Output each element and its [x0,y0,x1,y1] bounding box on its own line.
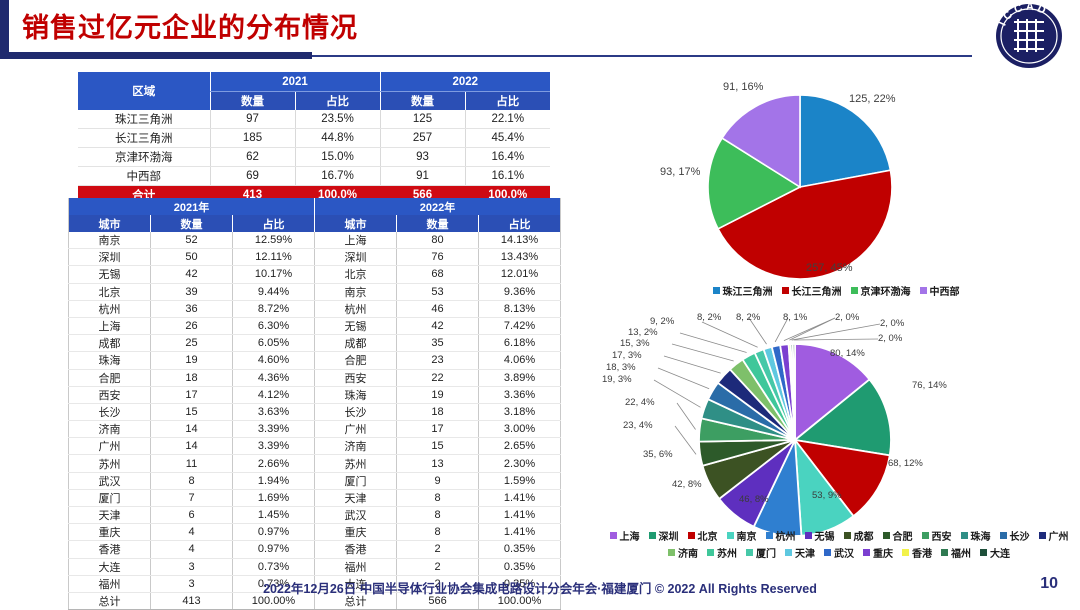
table-row: 大连30.73%福州20.35% [69,558,561,575]
pie-data-label: 13, 2% [628,327,658,338]
pie-data-label: 53, 9% [812,490,842,501]
city-2022-count: 80 [397,232,479,249]
legend-item[interactable]: 长江三角洲 [782,283,842,298]
legend-label: 重庆 [873,545,893,560]
city-2021-name: 厦门 [69,489,151,506]
legend-item[interactable]: 济南 [668,545,698,560]
city-2022-name: 福州 [315,558,397,575]
legend-swatch-icon [883,532,890,539]
legend-swatch-icon [785,549,792,556]
pie-data-label: 76, 14% [912,380,947,391]
city-2021-name: 上海 [69,317,151,334]
leader-line [664,356,721,373]
table-row: 香港40.97%香港20.35% [69,541,561,558]
city-2021-share: 1.45% [233,507,315,524]
city-2021-share: 6.30% [233,317,315,334]
city-2022-share: 0.35% [479,541,561,558]
city-2021-count: 25 [151,335,233,352]
legend-swatch-icon [1039,532,1046,539]
city-year-2022-header: 2022年 [315,198,561,215]
legend-label: 京津环渤海 [861,283,911,298]
legend-label: 珠海 [971,528,991,543]
legend-label: 西安 [932,528,952,543]
legend-item[interactable]: 重庆 [863,545,893,560]
city-2021-share-header: 占比 [233,215,315,232]
table-row: 长江三角洲 185 44.8% 257 45.4% [78,129,550,148]
region-2021-count: 62 [210,148,295,167]
city-2021-count: 15 [151,403,233,420]
region-2021-share-header: 占比 [295,92,380,111]
pie-data-label: 35, 6% [643,449,673,460]
city-2021-share: 4.36% [233,369,315,386]
city-2021-share: 9.44% [233,283,315,300]
leader-line [794,339,878,340]
city-2021-name: 北京 [69,283,151,300]
legend-label: 长沙 [1010,528,1030,543]
legend-item[interactable]: 杭州 [766,528,796,543]
city-2021-share: 12.11% [233,249,315,266]
region-2022-share: 45.4% [465,129,550,148]
city-2022-name: 珠海 [315,386,397,403]
city-2021-count: 3 [151,558,233,575]
table-row: 济南143.39%广州173.00% [69,421,561,438]
leader-line [680,333,747,352]
legend-item[interactable]: 福州 [941,545,971,560]
legend-swatch-icon [805,532,812,539]
pie-data-label: 2, 0% [878,333,902,344]
page-number: 10 [1040,575,1058,593]
legend-label: 苏州 [717,545,737,560]
legend-label: 北京 [698,528,718,543]
city-2022-count-header: 数量 [397,215,479,232]
legend-swatch-icon [961,532,968,539]
city-2022-share: 3.36% [479,386,561,403]
legend-swatch-icon [782,287,789,294]
city-2022-name: 长沙 [315,403,397,420]
table-row: 杭州368.72%杭州468.13% [69,300,561,317]
legend-item[interactable]: 珠江三角洲 [713,283,773,298]
city-2021-share: 3.39% [233,438,315,455]
table-row: 南京5212.59%上海8014.13% [69,232,561,249]
pie-data-label: 22, 4% [625,397,655,408]
legend-label: 南京 [737,528,757,543]
table-row: 珠海194.60%合肥234.06% [69,352,561,369]
city-2021-count: 11 [151,455,233,472]
city-2022-count: 8 [397,524,479,541]
legend-swatch-icon [713,287,720,294]
pie-data-label: 9, 2% [650,316,674,327]
city-2022-count: 22 [397,369,479,386]
city-2022-name: 重庆 [315,524,397,541]
legend-item[interactable]: 上海 [610,528,640,543]
region-name: 中西部 [78,167,210,186]
region-year-2022-header: 2022 [380,72,550,92]
city-2022-share: 6.18% [479,335,561,352]
region-2022-count: 91 [380,167,465,186]
legend-swatch-icon [766,532,773,539]
city-2022-name: 南京 [315,283,397,300]
legend-item[interactable]: 中西部 [920,283,960,298]
city-2021-count: 14 [151,438,233,455]
legend-item[interactable]: 珠海 [961,528,991,543]
pie-label-top-1: 257, 45% [806,262,852,274]
city-2022-share: 4.06% [479,352,561,369]
city-2021-count: 52 [151,232,233,249]
city-2022-share: 8.13% [479,300,561,317]
legend-label: 大连 [990,545,1010,560]
pie-data-label: 8, 2% [736,312,760,323]
legend-item[interactable]: 南京 [727,528,757,543]
iccad-logo-icon: I C C A D [988,3,1070,69]
city-2021-name: 成都 [69,335,151,352]
legend-label: 成都 [854,528,874,543]
region-2021-share: 44.8% [295,129,380,148]
city-2021-share: 8.72% [233,300,315,317]
legend-swatch-icon [668,549,675,556]
region-2021-count: 97 [210,110,295,129]
region-pie-chart: 91, 16% 125, 22% 93, 17% 257, 45% [600,62,1070,312]
pie-label-zhujiang: 91, 16% [723,81,763,93]
legend-item[interactable]: 厦门 [746,545,776,560]
city-2022-name: 天津 [315,489,397,506]
city-2021-share: 1.69% [233,489,315,506]
legend-swatch-icon [941,549,948,556]
city-2021-share: 4.12% [233,386,315,403]
legend-item[interactable]: 苏州 [707,545,737,560]
table-row: 武汉81.94%厦门91.59% [69,472,561,489]
city-2022-share: 1.41% [479,524,561,541]
table-row: 重庆40.97%重庆81.41% [69,524,561,541]
region-name: 京津环渤海 [78,148,210,167]
city-2021-name: 天津 [69,507,151,524]
city-2021-count: 4 [151,541,233,558]
city-2022-name: 成都 [315,335,397,352]
legend-swatch-icon [902,549,909,556]
city-2022-count: 17 [397,421,479,438]
city-2021-name: 珠海 [69,352,151,369]
table-row: 北京399.44%南京539.36% [69,283,561,300]
legend-swatch-icon [920,287,927,294]
city-2022-name: 广州 [315,421,397,438]
city-2022-share: 2.65% [479,438,561,455]
legend-swatch-icon [980,549,987,556]
city-2022-name: 深圳 [315,249,397,266]
pie-data-label: 8, 2% [697,312,721,323]
city-2022-name: 上海 [315,232,397,249]
region-2021-count-header: 数量 [210,92,295,111]
legend-swatch-icon [824,549,831,556]
region-2022-count: 125 [380,110,465,129]
legend-item[interactable]: 香港 [902,545,932,560]
city-2022-count: 76 [397,249,479,266]
city-2022-count: 15 [397,438,479,455]
city-2022-name: 无锡 [315,317,397,334]
city-2021-count: 17 [151,386,233,403]
city-2022-count: 53 [397,283,479,300]
city-2021-share: 4.60% [233,352,315,369]
city-2021-name: 武汉 [69,472,151,489]
region-pie-legend: 珠江三角洲长江三角洲京津环渤海中西部 [614,283,1058,298]
city-2022-name: 合肥 [315,352,397,369]
legend-item[interactable]: 武汉 [824,545,854,560]
city-2021-name: 南京 [69,232,151,249]
legend-swatch-icon [851,287,858,294]
legend-swatch-icon [1000,532,1007,539]
legend-swatch-icon [610,532,617,539]
table-row: 天津61.45%武汉81.41% [69,507,561,524]
city-2021-name: 香港 [69,541,151,558]
region-2021-count: 185 [210,129,295,148]
table-row: 无锡4210.17%北京6812.01% [69,266,561,283]
legend-label: 天津 [795,545,815,560]
city-2022-count: 46 [397,300,479,317]
region-col-header: 区域 [78,72,210,110]
city-2022-share: 3.18% [479,403,561,420]
table-row: 成都256.05%成都356.18% [69,335,561,352]
legend-swatch-icon [844,532,851,539]
legend-swatch-icon [863,549,870,556]
table-row: 珠江三角洲 97 23.5% 125 22.1% [78,110,550,129]
city-2021-count: 42 [151,266,233,283]
legend-item[interactable]: 合肥 [883,528,913,543]
legend-swatch-icon [746,549,753,556]
table-row: 长沙153.63%长沙183.18% [69,403,561,420]
legend-label: 深圳 [659,528,679,543]
city-2022-share: 9.36% [479,283,561,300]
pie-data-label: 17, 3% [612,350,642,361]
region-2022-count: 257 [380,129,465,148]
pie-label-top-2: 93, 17% [660,166,700,178]
city-2022-name: 苏州 [315,455,397,472]
city-2021-count: 7 [151,489,233,506]
city-2021-share: 10.17% [233,266,315,283]
city-2021-count: 36 [151,300,233,317]
pie-data-label: 2, 0% [880,318,904,329]
pie-data-label: 23, 4% [623,420,653,431]
legend-item[interactable]: 无锡 [805,528,835,543]
city-2022-share: 7.42% [479,317,561,334]
city-2022-share-header: 占比 [479,215,561,232]
city-pie-chart: 80, 14%76, 14%68, 12%53, 9%46, 8%42, 8%3… [600,312,1070,564]
city-pie-legend: 上海深圳北京南京杭州无锡成都合肥西安珠海长沙广州济南苏州厦门天津武汉重庆香港福州… [606,528,1072,560]
city-2022-share: 3.89% [479,369,561,386]
legend-item[interactable]: 京津环渤海 [851,283,911,298]
city-2021-count: 19 [151,352,233,369]
legend-label: 济南 [678,545,698,560]
city-2021-name: 合肥 [69,369,151,386]
region-2021-share: 15.0% [295,148,380,167]
city-2022-share: 1.41% [479,507,561,524]
leader-line [792,324,880,340]
legend-item[interactable]: 西安 [922,528,952,543]
city-2022-share: 1.59% [479,472,561,489]
pie-label-top-0: 125, 22% [849,93,895,105]
pie-data-label: 15, 3% [620,338,650,349]
city-year-2021-header: 2021年 [69,198,315,215]
city-2022-share: 14.13% [479,232,561,249]
city-2022-count: 13 [397,455,479,472]
city-2021-share: 3.63% [233,403,315,420]
city-2022-name: 香港 [315,541,397,558]
city-2022-count: 23 [397,352,479,369]
legend-item[interactable]: 长沙 [1000,528,1030,543]
city-2021-count: 14 [151,421,233,438]
city-2022-count: 35 [397,335,479,352]
city-2021-count: 18 [151,369,233,386]
table-row: 中西部 69 16.7% 91 16.1% [78,167,550,186]
pie-data-label: 8, 1% [783,312,807,323]
city-2021-name: 无锡 [69,266,151,283]
city-2021-share: 0.97% [233,541,315,558]
city-2022-name: 济南 [315,438,397,455]
legend-item[interactable]: 天津 [785,545,815,560]
pie-data-label: 42, 8% [672,479,702,490]
city-2021-name: 重庆 [69,524,151,541]
city-2021-count-header: 数量 [151,215,233,232]
region-name: 珠江三角洲 [78,110,210,129]
legend-item[interactable]: 北京 [688,528,718,543]
city-2022-count: 2 [397,541,479,558]
city-2022-share: 3.00% [479,421,561,438]
legend-label: 福州 [951,545,971,560]
region-2021-share: 16.7% [295,167,380,186]
city-2021-share: 2.66% [233,455,315,472]
city-2021-count: 6 [151,507,233,524]
pie-data-label: 80, 14% [830,348,865,359]
pie-data-label: 68, 12% [888,458,923,469]
region-2022-share: 16.1% [465,167,550,186]
city-2022-name: 西安 [315,369,397,386]
region-2022-count: 93 [380,148,465,167]
city-2022-share: 13.43% [479,249,561,266]
legend-item[interactable]: 大连 [980,545,1010,560]
legend-item[interactable]: 深圳 [649,528,679,543]
city-2021-share: 6.05% [233,335,315,352]
city-distribution-table: 2021年 2022年 城市 数量 占比 城市 数量 占比 南京5212.59%… [68,198,561,610]
legend-swatch-icon [922,532,929,539]
legend-swatch-icon [727,532,734,539]
pie-data-label: 18, 3% [606,362,636,373]
region-2022-count-header: 数量 [380,92,465,111]
city-2022-count: 68 [397,266,479,283]
table-row: 苏州112.66%苏州132.30% [69,455,561,472]
legend-label: 上海 [620,528,640,543]
city-2021-share: 0.97% [233,524,315,541]
legend-label: 杭州 [776,528,796,543]
table-row: 广州143.39%济南152.65% [69,438,561,455]
region-year-2021-header: 2021 [210,72,380,92]
legend-label: 合肥 [893,528,913,543]
title-rule-thick [0,52,312,59]
region-2022-share-header: 占比 [465,92,550,111]
leader-line [675,426,696,454]
city-2021-name: 长沙 [69,403,151,420]
city-2021-count: 39 [151,283,233,300]
pie-data-label: 46, 8% [739,494,769,505]
legend-label: 珠江三角洲 [723,283,773,298]
leader-line [658,368,709,389]
city-2022-count: 2 [397,558,479,575]
legend-label: 中西部 [930,283,960,298]
city-2022-name: 北京 [315,266,397,283]
title-rule-thin [312,55,972,57]
table-row: 合肥184.36%西安223.89% [69,369,561,386]
city-2021-share: 3.39% [233,421,315,438]
legend-label: 广州 [1049,528,1069,543]
city-2022-count: 18 [397,403,479,420]
city-2021-name: 广州 [69,438,151,455]
city-2022-share: 12.01% [479,266,561,283]
footer-text: 2022年12月26日 中国半导体行业协会集成电路设计分会年会·福建厦门 © 2… [0,578,1080,600]
region-2021-count: 69 [210,167,295,186]
legend-item[interactable]: 广州 [1039,528,1069,543]
legend-swatch-icon [707,549,714,556]
region-2021-share: 23.5% [295,110,380,129]
region-name: 长江三角洲 [78,129,210,148]
city-2022-share: 0.35% [479,558,561,575]
table-row: 京津环渤海 62 15.0% 93 16.4% [78,148,550,167]
page-title: 销售过亿元企业的分布情况 [22,11,358,45]
city-2021-count: 50 [151,249,233,266]
city-2022-name: 厦门 [315,472,397,489]
city-2021-city-header: 城市 [69,215,151,232]
city-2022-count: 9 [397,472,479,489]
city-2021-name: 深圳 [69,249,151,266]
pie-data-label: 19, 3% [602,374,632,385]
city-2022-count: 19 [397,386,479,403]
city-2021-name: 西安 [69,386,151,403]
legend-swatch-icon [688,532,695,539]
legend-swatch-icon [649,532,656,539]
legend-label: 香港 [912,545,932,560]
city-2021-name: 苏州 [69,455,151,472]
region-distribution-table: 区域 2021 2022 数量 占比 数量 占比 珠江三角洲 97 23.5% … [78,72,550,204]
city-2021-share: 0.73% [233,558,315,575]
city-2022-count: 8 [397,507,479,524]
leader-line [702,322,758,347]
legend-item[interactable]: 成都 [844,528,874,543]
city-2022-city-header: 城市 [315,215,397,232]
slide-root: 销售过亿元企业的分布情况 [0,0,1080,607]
city-2021-name: 大连 [69,558,151,575]
city-2022-share: 2.30% [479,455,561,472]
city-2022-count: 42 [397,317,479,334]
region-2022-share: 22.1% [465,110,550,129]
legend-label: 厦门 [756,545,776,560]
table-row: 厦门71.69%天津81.41% [69,489,561,506]
city-2021-count: 26 [151,317,233,334]
city-2021-count: 8 [151,472,233,489]
city-2021-count: 4 [151,524,233,541]
legend-label: 无锡 [815,528,835,543]
city-2022-name: 杭州 [315,300,397,317]
city-2021-name: 济南 [69,421,151,438]
leader-line [672,344,734,361]
legend-label: 武汉 [834,545,854,560]
title-accent-stripe [0,0,9,53]
city-2021-name: 杭州 [69,300,151,317]
city-2022-name: 武汉 [315,507,397,524]
table-row: 上海266.30%无锡427.42% [69,317,561,334]
region-2022-share: 16.4% [465,148,550,167]
legend-label: 长江三角洲 [792,283,842,298]
leader-line [677,403,696,429]
city-2022-count: 8 [397,489,479,506]
table-row: 西安174.12%珠海193.36% [69,386,561,403]
city-2022-share: 1.41% [479,489,561,506]
city-2021-share: 12.59% [233,232,315,249]
table-row: 深圳5012.11%深圳7613.43% [69,249,561,266]
